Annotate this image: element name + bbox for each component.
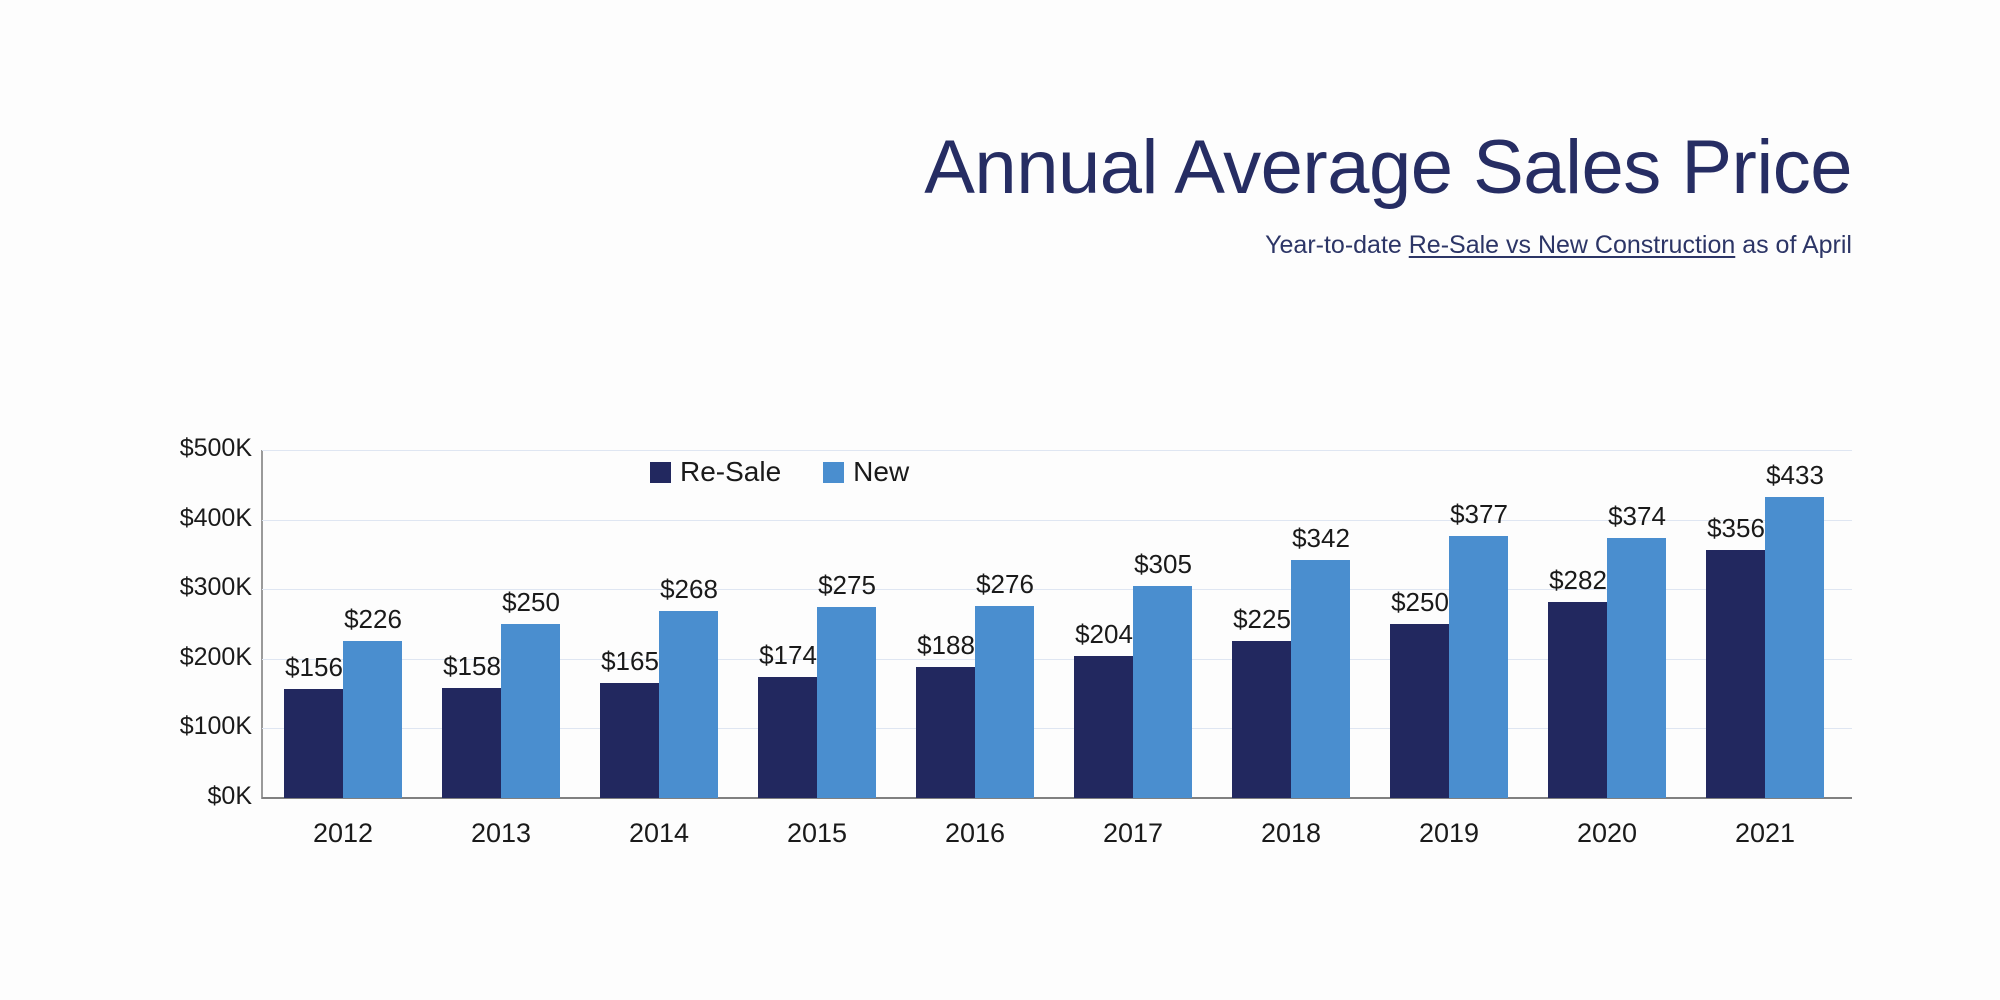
- y-axis-tick-label: $0K: [132, 782, 252, 811]
- chart-legend: Re-SaleNew: [650, 458, 909, 486]
- chart-header: Annual Average Sales Price Year-to-date …: [0, 130, 1852, 260]
- x-axis-tick-label: 2016: [895, 818, 1055, 849]
- chart-subtitle: Year-to-date Re-Sale vs New Construction…: [0, 232, 1852, 260]
- bar-re-sale[interactable]: [1390, 624, 1449, 798]
- bar-new[interactable]: [659, 611, 718, 798]
- x-axis-tick-label: 2021: [1685, 818, 1845, 849]
- bar-value-label: $377: [1414, 499, 1544, 530]
- x-axis-tick-label: 2017: [1053, 818, 1213, 849]
- x-axis-tick-label: 2020: [1527, 818, 1687, 849]
- bar-new[interactable]: [817, 607, 876, 798]
- bar-new[interactable]: [501, 624, 560, 798]
- bar-new[interactable]: [1449, 536, 1508, 798]
- y-axis-tick-label: $300K: [132, 573, 252, 602]
- slide-canvas: Annual Average Sales Price Year-to-date …: [0, 0, 2000, 1000]
- bar-value-label: $268: [624, 574, 754, 605]
- legend-swatch-icon: [650, 462, 671, 483]
- legend-item-new[interactable]: New: [823, 458, 909, 486]
- legend-label: Re-Sale: [680, 458, 781, 486]
- bar-group: $356$433: [1706, 450, 1824, 798]
- y-axis-tick-label: $500K: [132, 434, 252, 463]
- legend-swatch-icon: [823, 462, 844, 483]
- bar-value-label: $305: [1098, 549, 1228, 580]
- subtitle-underlined-link[interactable]: Re-Sale vs New Construction: [1409, 231, 1736, 259]
- bar-value-label: $342: [1256, 523, 1386, 554]
- x-axis-tick-label: 2014: [579, 818, 739, 849]
- bar-value-label: $226: [308, 604, 438, 635]
- bar-new[interactable]: [1133, 586, 1192, 798]
- bar-value-label: $276: [940, 569, 1070, 600]
- bar-new[interactable]: [1607, 538, 1666, 798]
- plot-area: $156$226$158$250$165$268$174$275$188$276…: [262, 450, 1852, 798]
- bar-group: $174$275: [758, 450, 876, 798]
- bar-re-sale[interactable]: [1548, 602, 1607, 798]
- x-axis-tick-label: 2013: [421, 818, 581, 849]
- bar-value-label: $275: [782, 570, 912, 601]
- bar-new[interactable]: [1765, 497, 1824, 798]
- bar-group: $156$226: [284, 450, 402, 798]
- bar-value-label: $433: [1730, 460, 1860, 491]
- bar-group: $282$374: [1548, 450, 1666, 798]
- bar-re-sale[interactable]: [600, 683, 659, 798]
- bar-new[interactable]: [975, 606, 1034, 798]
- x-axis-tick-label: 2012: [263, 818, 423, 849]
- page-title: Annual Average Sales Price: [0, 130, 1852, 206]
- bar-re-sale[interactable]: [758, 677, 817, 798]
- bar-group: $188$276: [916, 450, 1034, 798]
- bar-value-label: $250: [466, 587, 596, 618]
- bar-group: $204$305: [1074, 450, 1192, 798]
- bar-re-sale[interactable]: [284, 689, 343, 798]
- bar-re-sale[interactable]: [442, 688, 501, 798]
- bar-group: $165$268: [600, 450, 718, 798]
- y-axis-tick-label: $400K: [132, 504, 252, 533]
- bar-re-sale[interactable]: [1074, 656, 1133, 798]
- subtitle-suffix: as of April: [1735, 231, 1852, 259]
- bar-re-sale[interactable]: [1706, 550, 1765, 798]
- x-axis-tick-label: 2018: [1211, 818, 1371, 849]
- bar-re-sale[interactable]: [1232, 641, 1291, 798]
- bar-group: $250$377: [1390, 450, 1508, 798]
- y-axis-tick-label: $100K: [132, 712, 252, 741]
- subtitle-prefix: Year-to-date: [1265, 231, 1409, 259]
- bar-group: $225$342: [1232, 450, 1350, 798]
- bar-new[interactable]: [343, 641, 402, 798]
- bar-new[interactable]: [1291, 560, 1350, 798]
- legend-label: New: [853, 458, 909, 486]
- legend-item-re-sale[interactable]: Re-Sale: [650, 458, 781, 486]
- y-axis-tick-label: $200K: [132, 643, 252, 672]
- bar-group: $158$250: [442, 450, 560, 798]
- x-axis-tick-label: 2015: [737, 818, 897, 849]
- bar-re-sale[interactable]: [916, 667, 975, 798]
- x-axis-tick-label: 2019: [1369, 818, 1529, 849]
